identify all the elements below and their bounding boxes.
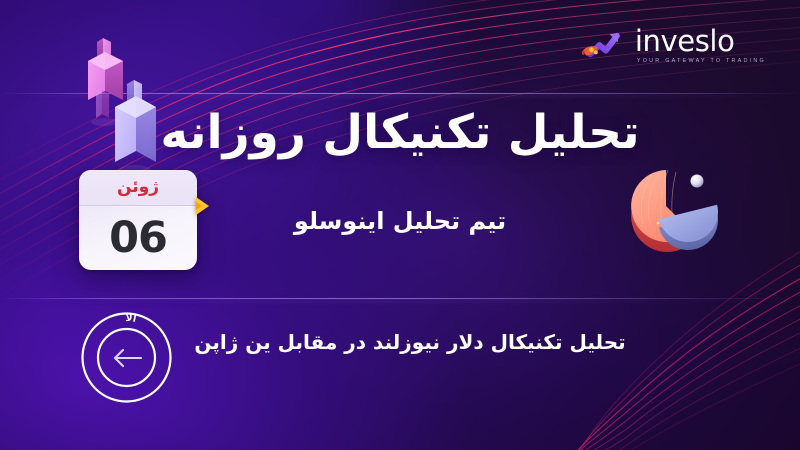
analysis-description: تحلیل تکنیکال دلار نیوزلند در مقابل ین ژ…	[160, 327, 660, 358]
calendar-body: 06	[79, 206, 197, 270]
rocket-arrow-icon	[582, 24, 626, 68]
logo-tagline: YOUR GATEWAY TO TRADING	[637, 59, 766, 64]
logo-wordmark: inveslo	[635, 27, 735, 56]
divider-glow-mid	[0, 299, 800, 302]
watch-now-badge[interactable]: الان ببین • الان ببین •	[81, 312, 172, 403]
poster-canvas: inveslo YOUR GATEWAY TO TRADING تحلیل تک…	[0, 0, 800, 450]
calendar-day-number: 06	[109, 217, 167, 260]
divider-glow-top	[0, 94, 800, 97]
page-title: تحلیل تکنیکال روزانه	[0, 104, 800, 163]
date-calendar-card: ژوئن 06	[79, 170, 197, 270]
calendar-header: ژوئن	[79, 170, 197, 206]
divider-mid	[0, 298, 800, 299]
arrow-left-icon[interactable]	[81, 312, 172, 403]
divider-top	[0, 93, 800, 94]
calendar-month-label: ژوئن	[117, 179, 159, 196]
calendar-tab-marker-inner-icon	[196, 202, 202, 210]
brand-logo[interactable]: inveslo YOUR GATEWAY TO TRADING	[582, 24, 766, 68]
